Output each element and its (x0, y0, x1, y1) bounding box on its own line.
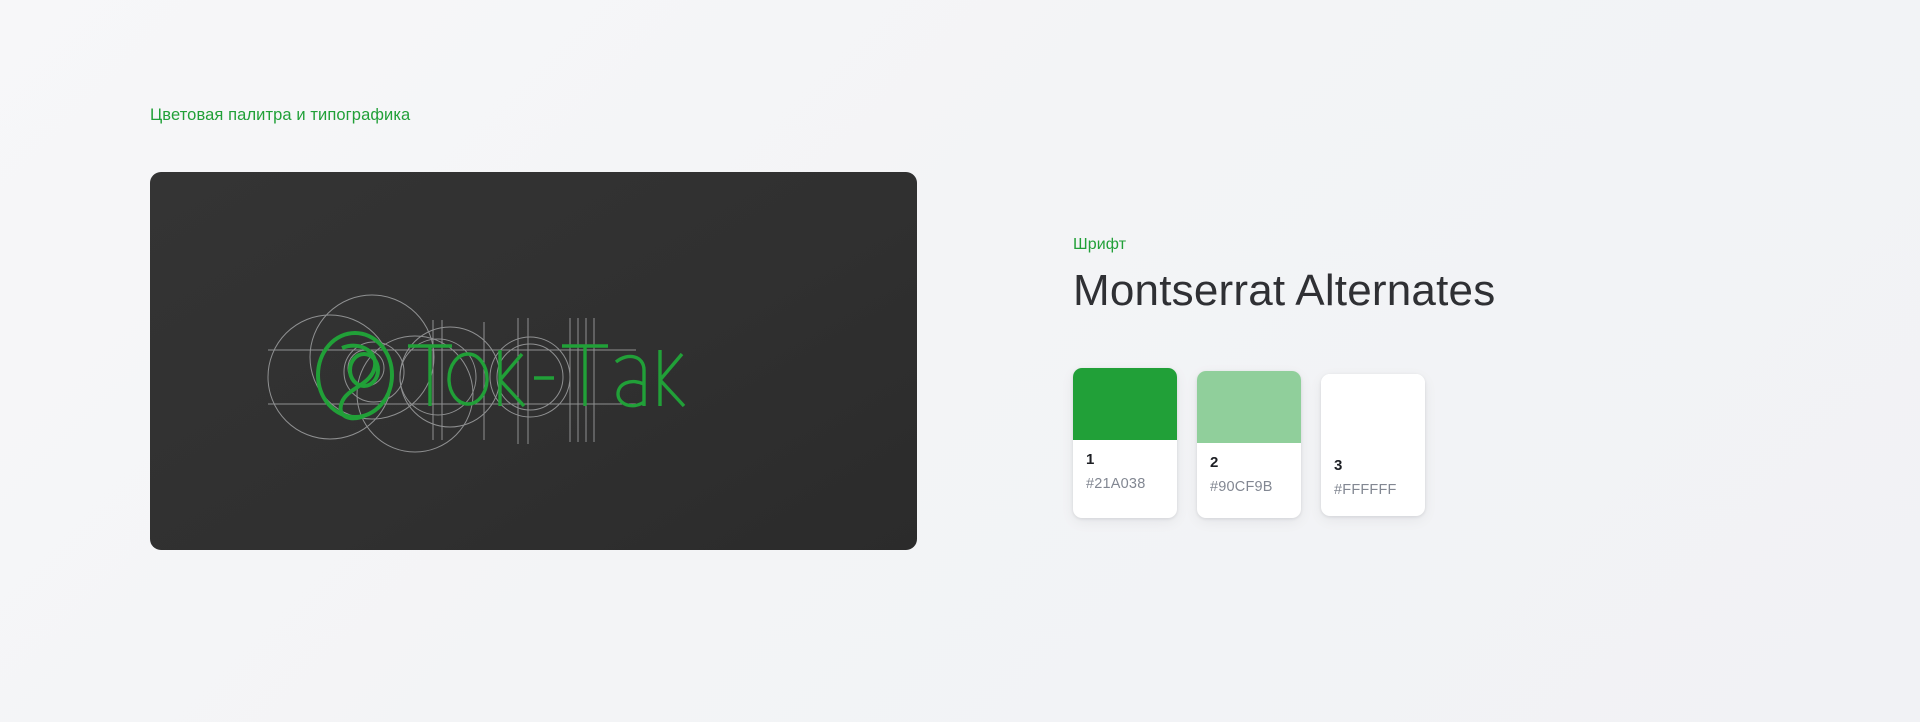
swatch-hex-value: #FFFFFF (1334, 482, 1412, 498)
swatch-meta: 3 #FFFFFF (1321, 446, 1425, 513)
swatch-card[interactable]: 2 #90CF9B (1197, 371, 1301, 518)
swatch-color-chip (1197, 371, 1301, 443)
swatch-card[interactable]: 3 #FFFFFF (1321, 374, 1425, 516)
logomark-icon (318, 333, 392, 418)
wordmark-outline (408, 346, 684, 406)
swatch-hex-value: #90CF9B (1210, 479, 1288, 495)
swatch-color-chip (1073, 368, 1177, 440)
swatch-hex-value: #21A038 (1086, 476, 1164, 492)
logo-construction-panel (150, 172, 917, 550)
swatch-meta: 1 #21A038 (1073, 440, 1177, 507)
logo-construction-diagram (150, 172, 917, 550)
page-title: Цветовая палитра и типографика (150, 106, 410, 125)
swatch-color-chip (1321, 374, 1425, 446)
swatch-meta: 2 #90CF9B (1197, 443, 1301, 510)
construction-guides (268, 295, 636, 452)
font-name: Montserrat Alternates (1073, 266, 1773, 315)
page-root: Цветовая палитра и типографика (0, 0, 1920, 722)
swatch-index: 1 (1086, 452, 1164, 469)
font-label: Шрифт (1073, 236, 1773, 254)
swatch-index: 3 (1334, 458, 1412, 475)
swatch-card[interactable]: 1 #21A038 (1073, 368, 1177, 518)
color-palette: 1 #21A038 2 #90CF9B 3 #FFFFFF (1073, 368, 1425, 518)
typography-block: Шрифт Montserrat Alternates (1073, 236, 1773, 315)
swatch-index: 2 (1210, 455, 1288, 472)
